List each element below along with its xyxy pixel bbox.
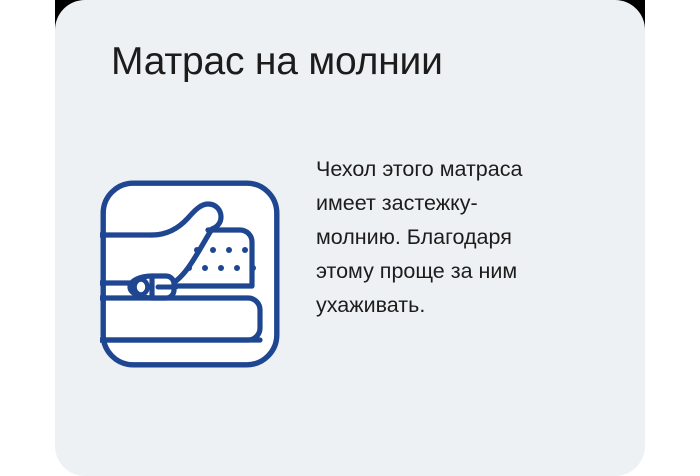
description-line: имеет застежку- [316, 186, 616, 220]
description-line: молнию. Благодаря [316, 220, 616, 254]
card-content-row: Чехол этого матраса имеет застежку- молн… [55, 165, 645, 380]
description-text: Чехол этого матраса имеет застежку- молн… [316, 152, 616, 322]
screenshot-stage: Матрас на молнии [0, 0, 700, 476]
description-line: этому проще за ним [316, 254, 616, 288]
zipped-mattress-icon [100, 180, 280, 368]
description-line: ухаживать. [316, 288, 616, 322]
description-line: Чехол этого матраса [316, 152, 616, 186]
page-title: Матрас на молнии [111, 38, 591, 86]
feature-card: Матрас на молнии [55, 0, 645, 476]
